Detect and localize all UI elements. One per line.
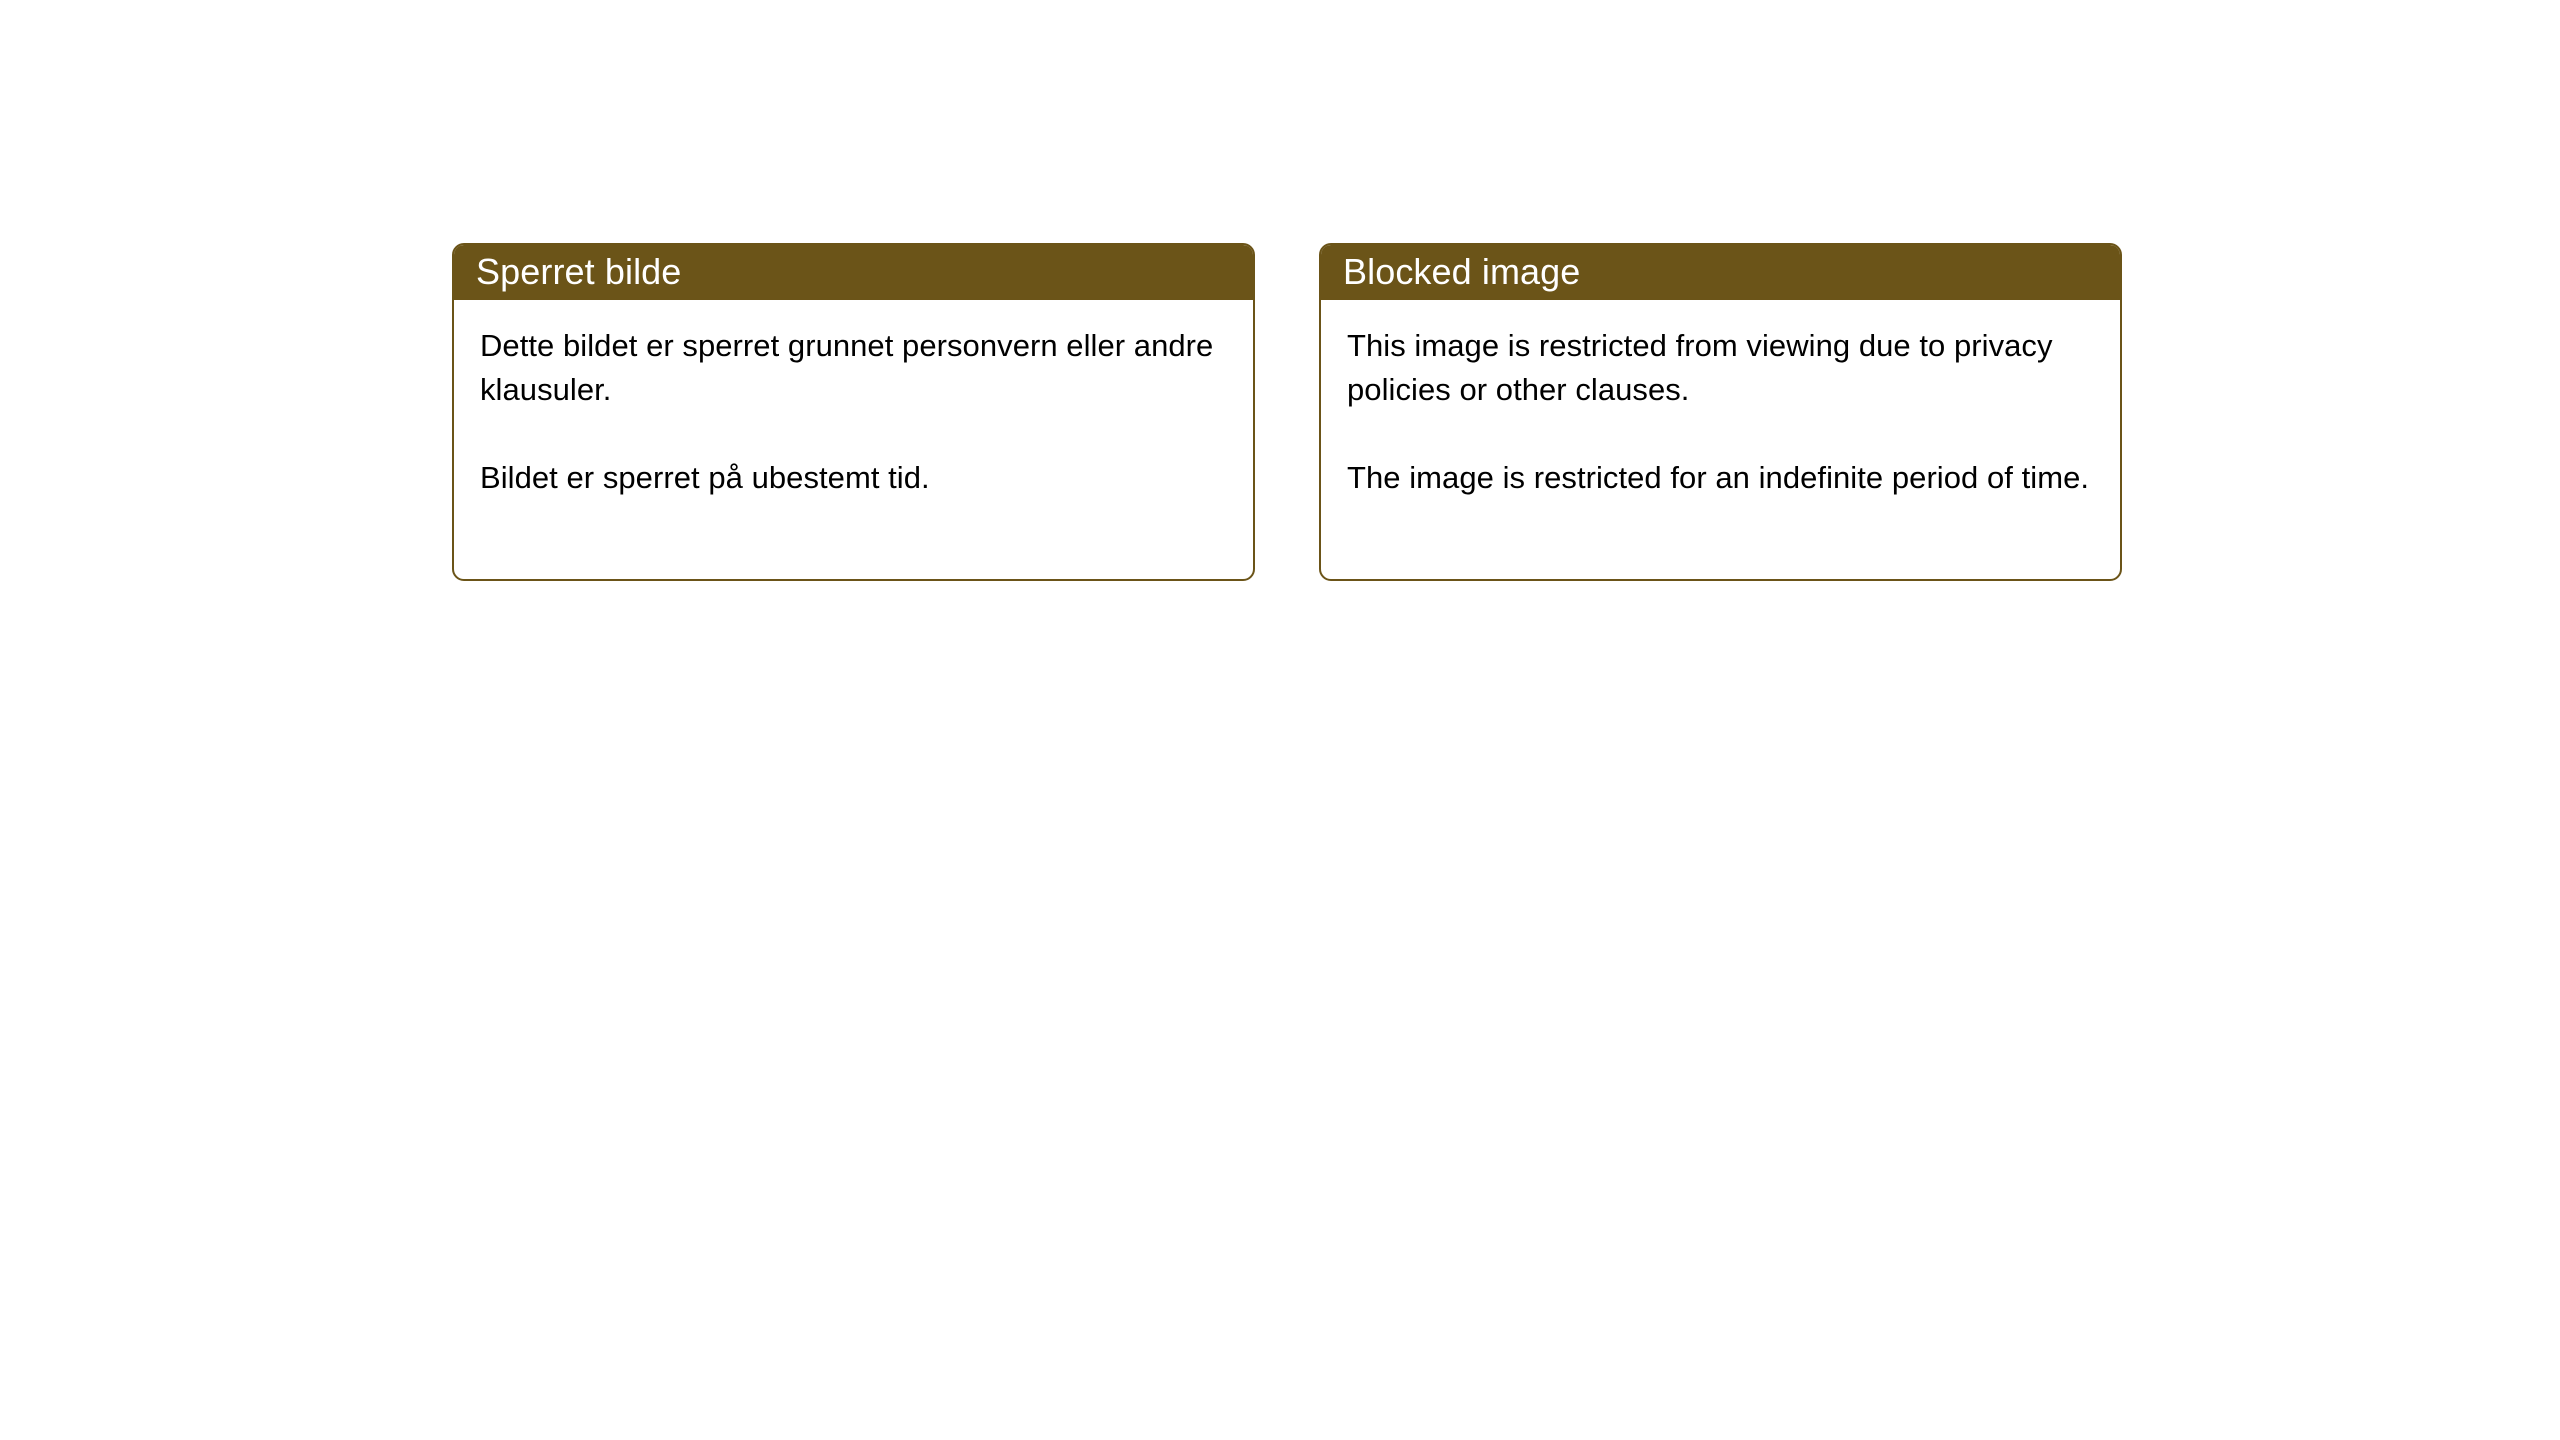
panel-paragraph-reason-english: This image is restricted from viewing du… (1347, 324, 2098, 412)
panel-header-norwegian: Sperret bilde (452, 243, 1255, 300)
blocked-image-notice-area: Sperret bilde Dette bildet er sperret gr… (452, 243, 2122, 581)
panel-title-norwegian: Sperret bilde (476, 252, 681, 292)
panel-paragraph-duration-norwegian: Bildet er sperret på ubestemt tid. (480, 456, 1231, 500)
blocked-image-panel-norwegian: Sperret bilde Dette bildet er sperret gr… (452, 243, 1255, 581)
panel-paragraph-duration-english: The image is restricted for an indefinit… (1347, 456, 2098, 500)
blocked-image-panel-english: Blocked image This image is restricted f… (1319, 243, 2122, 581)
panel-header-english: Blocked image (1319, 243, 2122, 300)
panel-body-english: This image is restricted from viewing du… (1321, 300, 2120, 579)
panel-title-english: Blocked image (1343, 252, 1580, 292)
panel-body-norwegian: Dette bildet er sperret grunnet personve… (454, 300, 1253, 579)
panel-paragraph-reason-norwegian: Dette bildet er sperret grunnet personve… (480, 324, 1231, 412)
